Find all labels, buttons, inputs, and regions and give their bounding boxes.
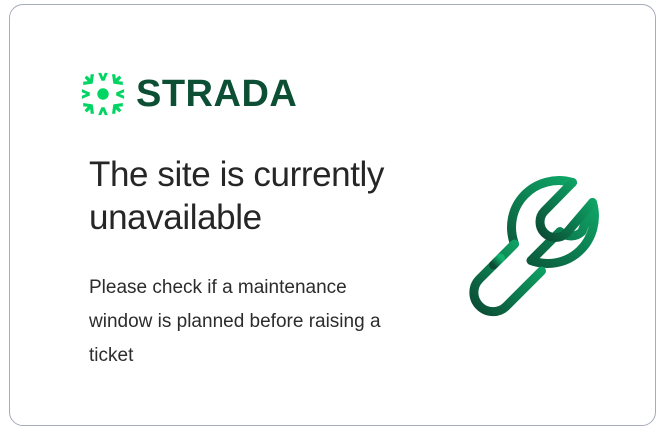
page-title: The site is currently unavailable bbox=[89, 154, 429, 239]
brand-logo: STRADA bbox=[81, 72, 297, 116]
error-page: STRADA The site is currently unavailable… bbox=[0, 0, 666, 436]
page-description: Please check if a maintenance window is … bbox=[89, 271, 394, 372]
status-card: STRADA The site is currently unavailable… bbox=[9, 4, 656, 426]
wrench-illustration bbox=[460, 157, 628, 325]
brand-wordmark: STRADA bbox=[136, 75, 297, 113]
strada-asterisk-icon bbox=[81, 72, 125, 116]
